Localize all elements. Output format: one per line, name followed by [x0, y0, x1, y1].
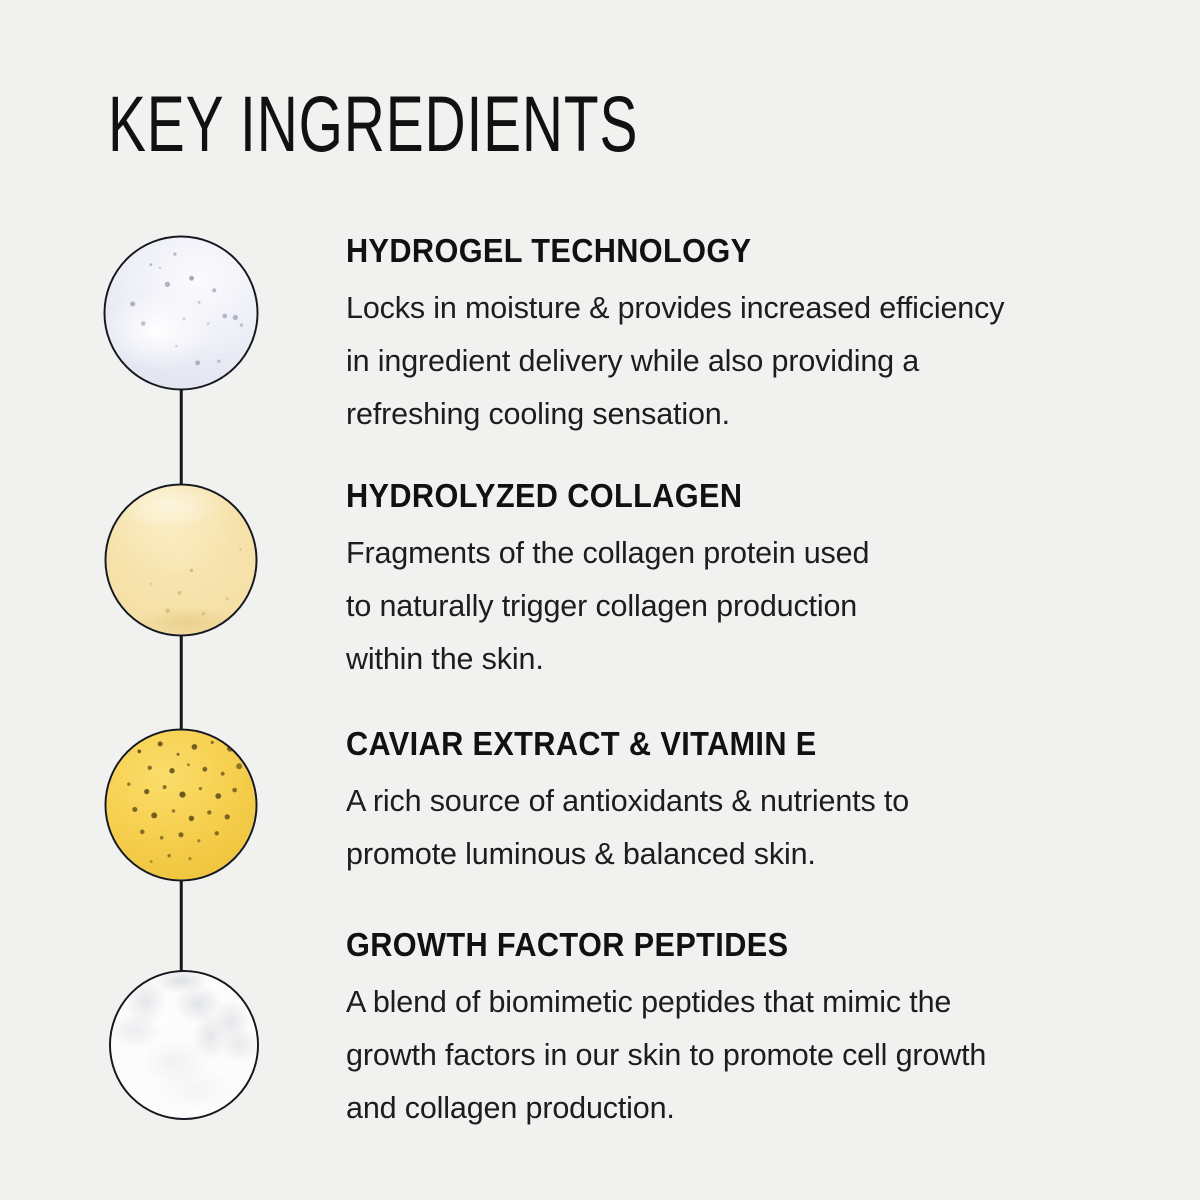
section-body: Fragments of the collagen protein used t…: [346, 527, 1136, 686]
connector-line-2-3: [180, 636, 183, 729]
body-line: A rich source of antioxidants & nutrient…: [346, 775, 1136, 828]
ingredient-section-hydrogel: HYDROGEL TECHNOLOGY Locks in moisture & …: [346, 234, 1136, 441]
body-line: refreshing cooling sensation.: [346, 388, 1136, 441]
ingredient-section-peptides: GROWTH FACTOR PEPTIDES A blend of biomim…: [346, 928, 1136, 1135]
ingredient-swatch-rail: [0, 0, 330, 1200]
section-heading: CAVIAR EXTRACT & VITAMIN E: [346, 727, 1081, 760]
ingredient-section-collagen: HYDROLYZED COLLAGEN Fragments of the col…: [346, 479, 1136, 686]
body-line: to naturally trigger collagen production: [346, 580, 1136, 633]
section-heading: HYDROGEL TECHNOLOGY: [346, 234, 1081, 267]
connector-line-1-2: [180, 389, 183, 484]
body-line: Locks in moisture & provides increased e…: [346, 282, 1136, 335]
key-ingredients-infographic: KEY INGREDIENTS HYDROGEL TECHNOLOGY Lock: [0, 0, 1200, 1200]
hydrogel-swatch-bubbles: [106, 238, 257, 389]
collagen-swatch-circle: [105, 484, 258, 637]
hydrogel-swatch-circle: [104, 236, 259, 391]
body-line: in ingredient delivery while also provid…: [346, 335, 1136, 388]
section-heading: GROWTH FACTOR PEPTIDES: [346, 928, 1081, 961]
ingredient-section-caviar: CAVIAR EXTRACT & VITAMIN E A rich source…: [346, 727, 1136, 881]
body-line: and collagen production.: [346, 1082, 1136, 1135]
section-body: A rich source of antioxidants & nutrient…: [346, 775, 1136, 881]
connector-line-3-4: [180, 881, 183, 971]
caviar-swatch-speckles: [107, 731, 256, 880]
body-line: within the skin.: [346, 633, 1136, 686]
section-heading: HYDROLYZED COLLAGEN: [346, 479, 1081, 512]
body-line: A blend of biomimetic peptides that mimi…: [346, 976, 1136, 1029]
collagen-swatch-sheen: [107, 486, 256, 635]
peptide-swatch-circle: [109, 970, 259, 1120]
body-line: Fragments of the collagen protein used: [346, 527, 1136, 580]
peptide-swatch-highlights: [111, 972, 257, 1118]
section-body: A blend of biomimetic peptides that mimi…: [346, 976, 1136, 1135]
body-line: promote luminous & balanced skin.: [346, 828, 1136, 881]
section-body: Locks in moisture & provides increased e…: [346, 282, 1136, 441]
caviar-swatch-circle: [105, 729, 258, 882]
body-line: growth factors in our skin to promote ce…: [346, 1029, 1136, 1082]
